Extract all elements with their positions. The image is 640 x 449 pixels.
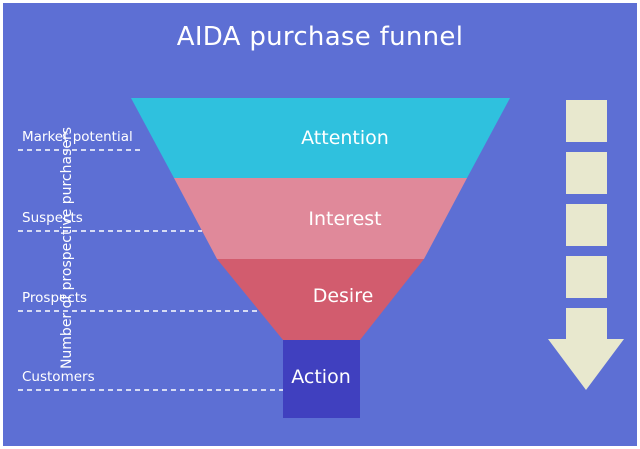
arrow-segment-3 <box>566 204 607 246</box>
arrow-segment-4 <box>566 256 607 298</box>
page-title: AIDA purchase funnel <box>0 22 640 52</box>
funnel-label-action: Action <box>241 366 401 388</box>
arrow-segment-1 <box>566 100 607 142</box>
arrow-head-down-icon <box>548 308 624 390</box>
arrow-segment-2 <box>566 152 607 194</box>
audience-label-market-potential: Market potential <box>22 129 133 145</box>
diagram-canvas: AIDA purchase funnel Attention Interest … <box>0 0 640 449</box>
vertical-axis-label: Number of prospective purchasers <box>59 108 75 388</box>
audience-label-prospects: Prospects <box>22 290 87 306</box>
funnel-label-desire: Desire <box>243 285 443 307</box>
funnel-label-attention: Attention <box>245 127 445 149</box>
funnel-label-interest: Interest <box>245 208 445 230</box>
